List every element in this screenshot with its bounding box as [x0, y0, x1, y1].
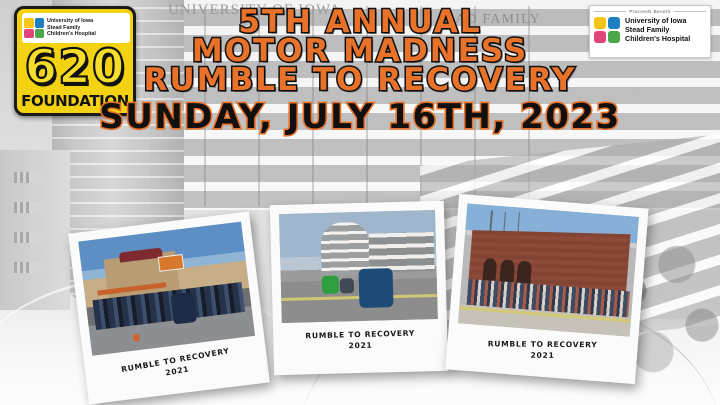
620-number: 620 — [17, 40, 133, 95]
photo-riders-at-hospital — [279, 210, 438, 323]
hospital-name-block: University of Iowa Stead Family Children… — [625, 16, 690, 44]
childrens-hospital-tiles-icon — [594, 17, 620, 43]
polaroid-caption: RUMBLE TO RECOVERY 2021 — [456, 329, 628, 360]
polaroid-photo-2: RUMBLE TO RECOVERY 2021 — [270, 201, 448, 375]
hospital-logo-text: University of Iowa Stead Family Children… — [47, 18, 96, 38]
polaroid-caption: RUMBLE TO RECOVERY 2021 — [282, 319, 439, 352]
caption-line-2: 2021 — [456, 350, 628, 361]
event-poster: UNIVERSITY OF IOWA AD FAMILY University … — [0, 0, 720, 405]
background-signage-left: UNIVERSITY OF IOWA — [168, 2, 341, 19]
polaroid-photo-3: RUMBLE TO RECOVERY 2021 — [445, 194, 648, 384]
hospital-line-1: University of Iowa — [47, 18, 96, 25]
photo-crowd-at-stadium — [458, 203, 639, 337]
hospital-line-3: Children's Hospital — [47, 31, 96, 38]
caption-line-1: RUMBLE TO RECOVERY — [457, 339, 629, 350]
hospital-line-2: Stead Family — [47, 25, 96, 32]
proceeds-benefit-logo: Proceeds Benefit University of Iowa Stea… — [589, 5, 711, 58]
foundation-word: FOUNDATION — [17, 92, 133, 110]
hospital-line-1: University of Iowa — [625, 16, 690, 25]
background-signage-right: AD FAMILY — [455, 12, 541, 28]
proceeds-benefit-label: Proceeds Benefit — [629, 9, 670, 14]
620-foundation-logo: University of Iowa Stead Family Children… — [14, 6, 136, 116]
background-left-block — [0, 150, 70, 310]
childrens-hospital-tiles-icon — [24, 18, 44, 38]
hospital-line-3: Children's Hospital — [625, 34, 690, 43]
hospital-logo-badge: University of Iowa Stead Family Children… — [22, 13, 130, 43]
hospital-line-2: Stead Family — [625, 25, 690, 34]
polaroid-photo-1: RUMBLE TO RECOVERY 2021 — [68, 212, 270, 405]
caption-line-2: 2021 — [282, 339, 438, 352]
